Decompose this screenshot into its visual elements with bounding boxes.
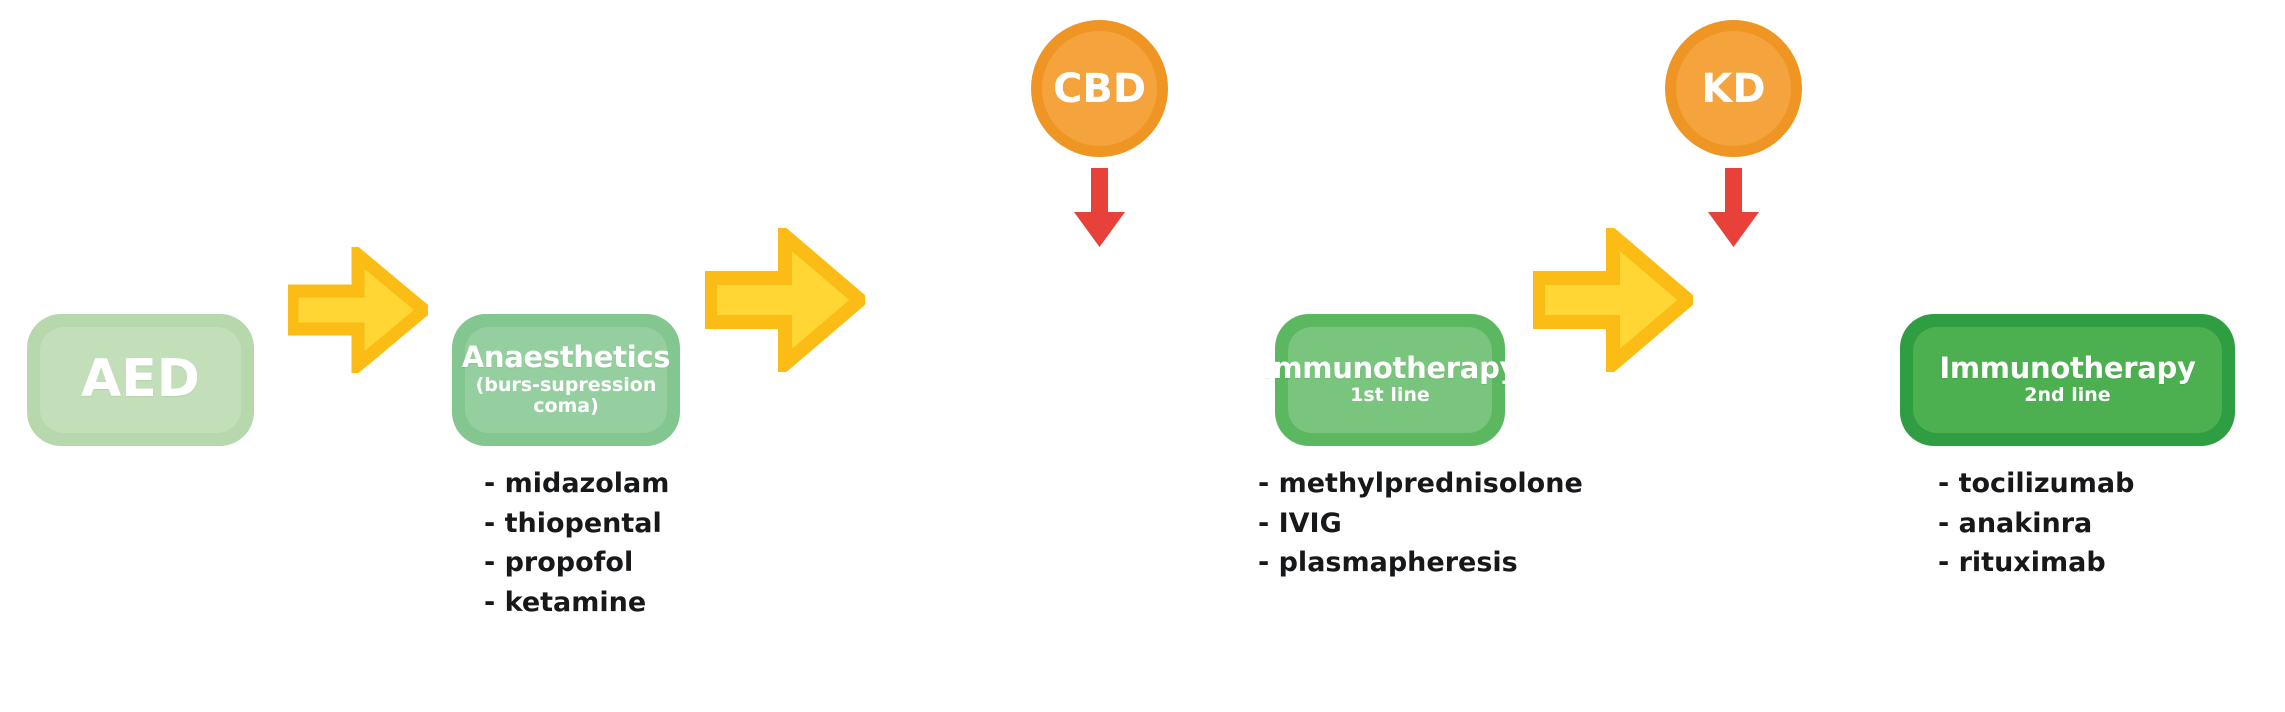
flowchart-canvas: AED Anaesthetics (burs-supression coma) … [0,0,2285,712]
adjunct-circle-kd[interactable]: KD [1665,20,1802,157]
stage-box-immunotherapy-1st-line-subtitle: 1st line [1350,385,1430,406]
stage-box-immunotherapy-1st-line-title: Immunotherapy [1262,354,1518,384]
stage-box-aed[interactable]: AED [27,314,254,446]
drug-list-immunotherapy-2nd-line: - tocilizumab - anakinra - rituximab [1938,464,2134,583]
stage-box-aed-title: AED [81,353,200,406]
stage-box-anaesthetics[interactable]: Anaesthetics (burs-supression coma) [452,314,680,446]
drug-list-item: - thiopental [484,504,669,544]
drug-list-immunotherapy-1st-line: - methylprednisolone - IVIG - plasmapher… [1258,464,1583,583]
right-arrow-icon [1533,228,1693,372]
stage-box-anaesthetics-title: Anaesthetics [462,343,670,373]
drug-list-anaesthetics: - midazolam - thiopental - propofol - ke… [484,464,669,623]
drug-list-item: - rituximab [1938,543,2134,583]
adjunct-circle-cbd-label: CBD [1053,66,1146,112]
stage-box-immunotherapy-2nd-line-title: Immunotherapy [1939,354,2195,384]
drug-list-item: - anakinra [1938,504,2134,544]
stage-box-immunotherapy-1st-line[interactable]: Immunotherapy 1st line [1275,314,1505,446]
adjunct-circle-kd-label: KD [1701,66,1765,112]
stage-box-immunotherapy-2nd-line[interactable]: Immunotherapy 2nd line [1900,314,2235,446]
stage-box-immunotherapy-2nd-line-subtitle: 2nd line [2024,385,2110,406]
drug-list-item: - ketamine [484,583,669,623]
stage-box-anaesthetics-subtitle: (burs-supression coma) [471,375,661,417]
drug-list-item: - propofol [484,543,669,583]
drug-list-item: - methylprednisolone [1258,464,1583,504]
down-arrow-icon-kd [1706,168,1761,248]
drug-list-item: - midazolam [484,464,669,504]
right-arrow-icon [705,228,865,372]
adjunct-circle-cbd[interactable]: CBD [1031,20,1168,157]
drug-list-item: - IVIG [1258,504,1583,544]
drug-list-item: - tocilizumab [1938,464,2134,504]
down-arrow-icon-cbd [1072,168,1127,248]
right-arrow-icon [288,247,428,373]
drug-list-item: - plasmapheresis [1258,543,1583,583]
